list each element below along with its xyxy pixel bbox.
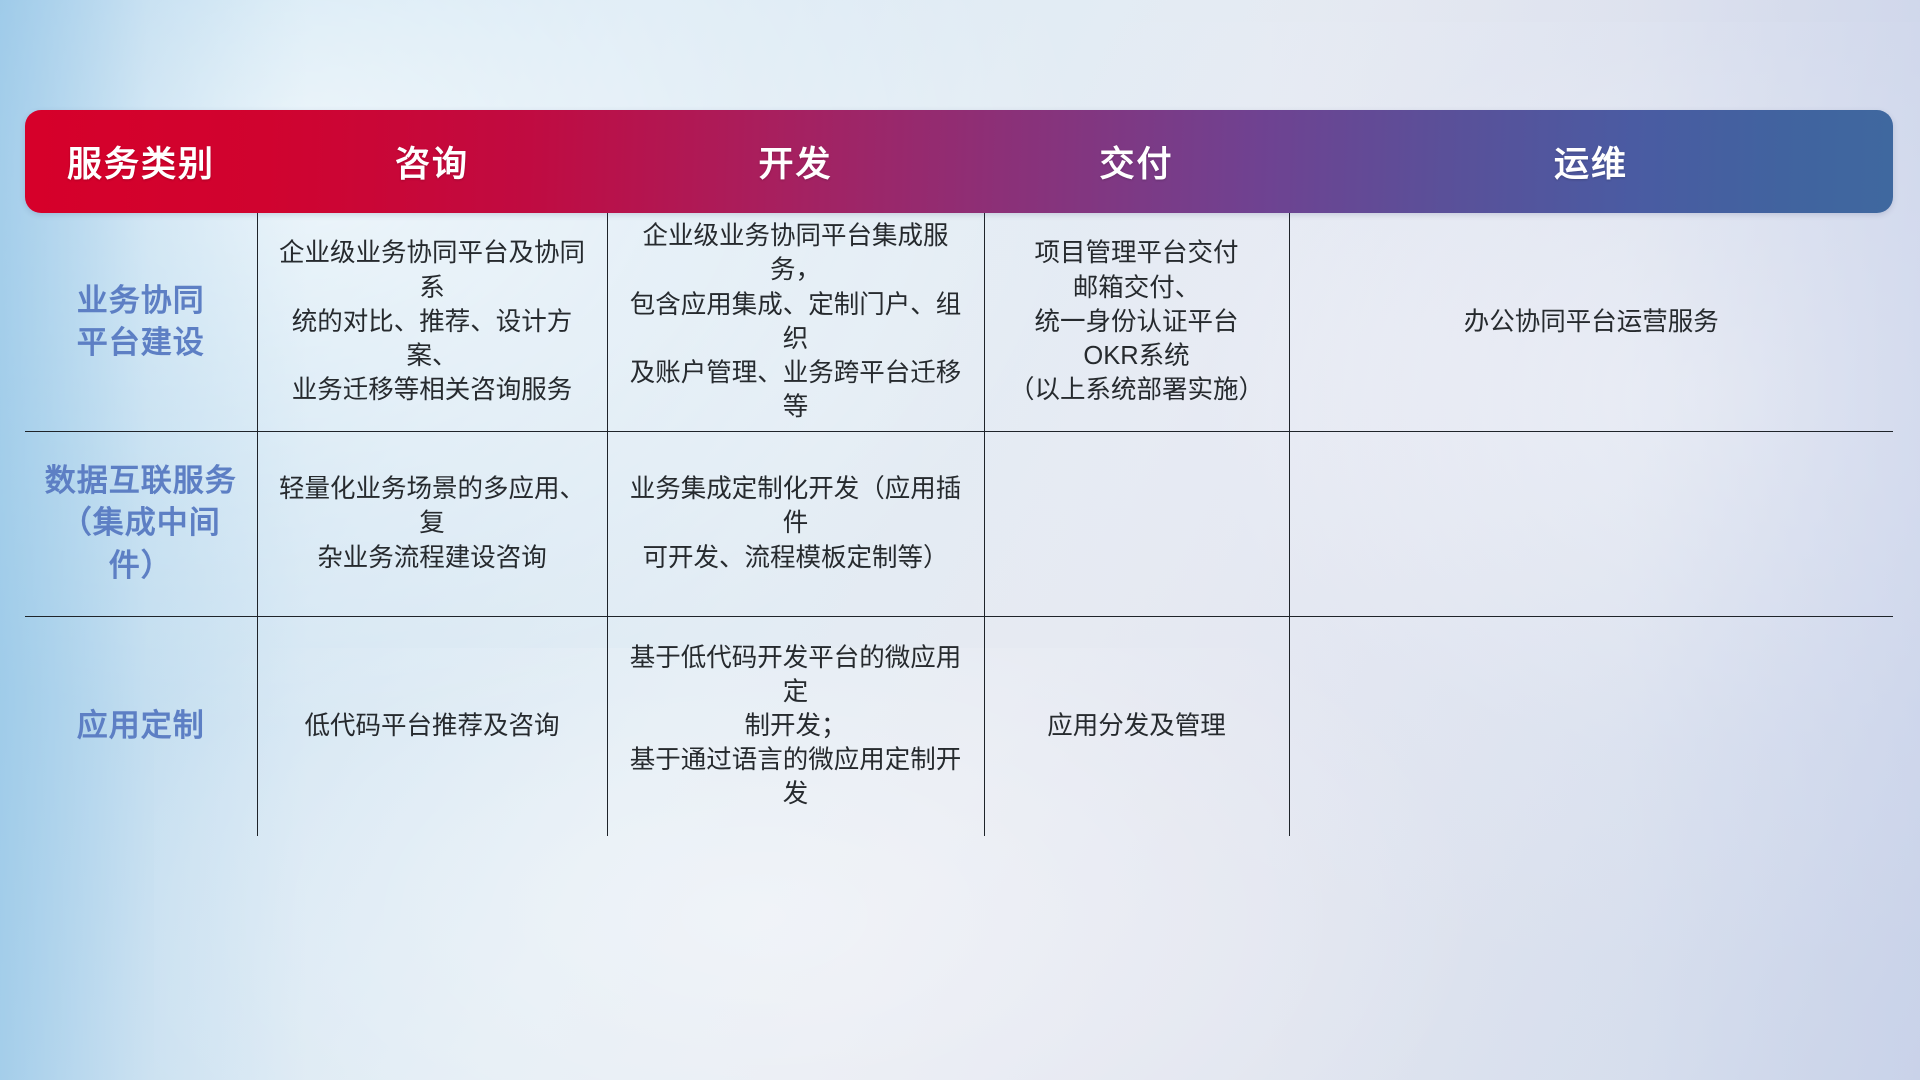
table-row: 数据互联服务 （集成中间件） 轻量化业务场景的多应用、复 杂业务流程建设咨询 业… — [25, 431, 1893, 616]
cell-operations-r2 — [1289, 431, 1893, 616]
cell-operations-r1: 办公协同平台运营服务 — [1289, 213, 1893, 431]
table-body: 业务协同 平台建设 企业级业务协同平台及协同系 统的对比、推荐、设计方案、 业务… — [25, 213, 1893, 836]
service-matrix-table-container: 服务类别 咨询 开发 交付 运维 业务协同 平台建设 企业级业务协同平台及协同系… — [25, 110, 1893, 950]
cell-consulting-r3: 低代码平台推荐及咨询 — [257, 616, 607, 836]
table-row: 应用定制 低代码平台推荐及咨询 基于低代码开发平台的微应用定 制开发； 基于通过… — [25, 616, 1893, 836]
row-label-collaboration-platform: 业务协同 平台建设 — [25, 213, 257, 431]
cell-development-r2: 业务集成定制化开发（应用插件 可开发、流程模板定制等） — [607, 431, 984, 616]
cell-development-r3: 基于低代码开发平台的微应用定 制开发； 基于通过语言的微应用定制开发 — [607, 616, 984, 836]
table-header-row: 服务类别 咨询 开发 交付 运维 — [25, 110, 1893, 213]
cell-operations-r3 — [1289, 616, 1893, 836]
row-label-data-interconnect: 数据互联服务 （集成中间件） — [25, 431, 257, 616]
column-header-consulting: 咨询 — [257, 110, 607, 213]
column-header-operations: 运维 — [1289, 110, 1893, 213]
cell-consulting-r2: 轻量化业务场景的多应用、复 杂业务流程建设咨询 — [257, 431, 607, 616]
table-header: 服务类别 咨询 开发 交付 运维 — [25, 110, 1893, 213]
service-matrix-table: 服务类别 咨询 开发 交付 运维 业务协同 平台建设 企业级业务协同平台及协同系… — [25, 110, 1893, 836]
cell-consulting-r1: 企业级业务协同平台及协同系 统的对比、推荐、设计方案、 业务迁移等相关咨询服务 — [257, 213, 607, 431]
cell-delivery-r1: 项目管理平台交付 邮箱交付、 统一身份认证平台 OKR系统 （以上系统部署实施） — [984, 213, 1289, 431]
cell-development-r1: 企业级业务协同平台集成服务， 包含应用集成、定制门户、组织 及账户管理、业务跨平… — [607, 213, 984, 431]
column-header-service-category: 服务类别 — [25, 110, 257, 213]
column-header-development: 开发 — [607, 110, 984, 213]
column-header-delivery: 交付 — [984, 110, 1289, 213]
cell-delivery-r3: 应用分发及管理 — [984, 616, 1289, 836]
row-label-app-customization: 应用定制 — [25, 616, 257, 836]
cell-delivery-r2 — [984, 431, 1289, 616]
table-row: 业务协同 平台建设 企业级业务协同平台及协同系 统的对比、推荐、设计方案、 业务… — [25, 213, 1893, 431]
